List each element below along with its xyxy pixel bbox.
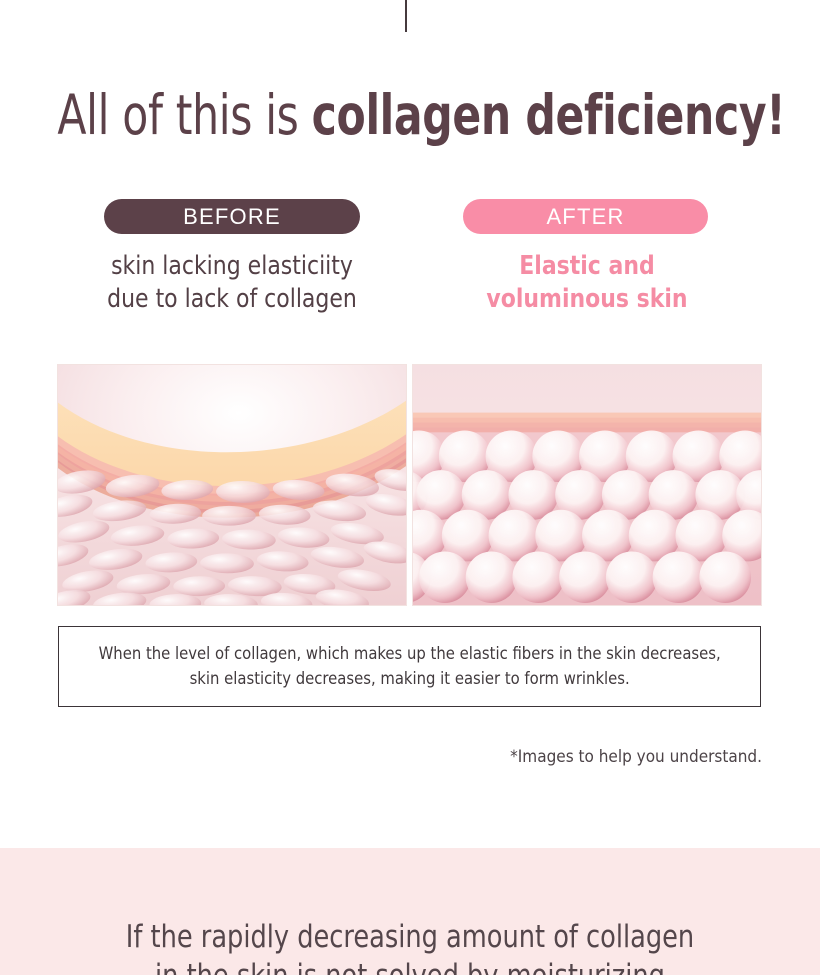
before-illustration — [57, 364, 407, 606]
after-skin-diagram — [413, 365, 761, 605]
bottom-pink-section: If the rapidly decreasing amount of coll… — [0, 848, 820, 975]
explanation-line1: When the level of collagen, which makes … — [98, 642, 720, 667]
explanation-text: When the level of collagen, which makes … — [91, 642, 729, 692]
after-caption-line2: voluminous skin — [423, 283, 752, 316]
bottom-message: If the rapidly decreasing amount of coll… — [33, 918, 787, 975]
explanation-box: When the level of collagen, which makes … — [58, 626, 761, 707]
bottom-message-line1: If the rapidly decreasing amount of coll… — [33, 918, 787, 957]
after-illustration — [412, 364, 762, 606]
before-caption-line2: due to lack of collagen — [68, 283, 397, 316]
image-footnote: *Images to help you understand. — [510, 745, 762, 769]
after-caption-line1: Elastic and — [423, 250, 752, 283]
headline-emphasis: collagen deficiency! — [312, 83, 786, 147]
top-divider-tick — [405, 0, 407, 32]
bottom-message-line2: in the skin is not solved by moisturizin… — [33, 957, 787, 975]
illustration-panels — [0, 364, 820, 606]
explanation-line2: skin elasticity decreases, making it eas… — [98, 667, 720, 692]
after-caption: Elastic and voluminous skin — [423, 250, 752, 316]
before-caption: skin lacking elasticiity due to lack of … — [68, 250, 397, 316]
before-caption-line1: skin lacking elasticiity — [68, 250, 397, 283]
after-column: AFTER Elastic and voluminous skin — [412, 199, 762, 316]
after-badge: AFTER — [463, 199, 708, 234]
before-badge: BEFORE — [104, 199, 360, 234]
infographic-page: All of this is collagen deficiency! BEFO… — [0, 0, 820, 975]
before-skin-diagram — [58, 365, 406, 605]
before-column: BEFORE skin lacking elasticiity due to l… — [57, 199, 407, 316]
headline-lead: All of this is — [57, 83, 311, 147]
page-title: All of this is collagen deficiency! — [57, 80, 762, 150]
